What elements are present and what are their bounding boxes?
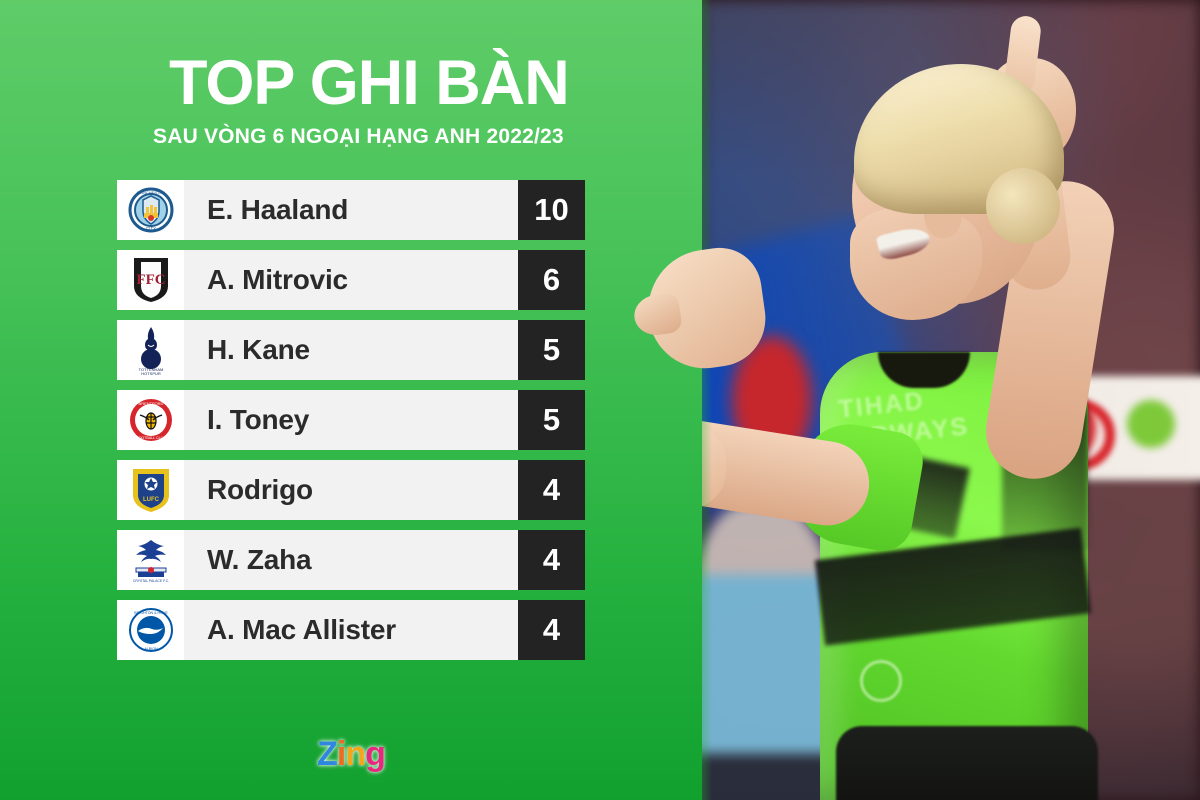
table-row[interactable]: BRIGHTON & HOVE ALBION A. Mac Allister 4 (117, 600, 585, 660)
logo-letter-n: n (345, 735, 365, 773)
logo-letter-z: Z (317, 735, 337, 773)
player-photo: TIHAD AIRWAYS (702, 0, 1200, 800)
man-city-crest: MANCHESTER CITY (117, 180, 184, 240)
player-name: W. Zaha (184, 530, 518, 590)
page-subtitle: SAU VÒNG 6 NGOẠI HẠNG ANH 2022/23 (153, 125, 677, 149)
svg-text:CITY: CITY (145, 226, 155, 231)
goal-count: 4 (518, 600, 585, 660)
player-shorts (836, 726, 1098, 800)
table-row[interactable]: LUFC Rodrigo 4 (117, 460, 585, 520)
leeds-crest: LUFC (117, 460, 184, 520)
infographic-canvas: TIHAD AIRWAYS TOP GHI BÀN SAU VÒNG 6 NGO… (0, 0, 1200, 800)
svg-text:FOOTBALL CLUB: FOOTBALL CLUB (136, 436, 166, 440)
table-row[interactable]: FFC A. Mitrovic 6 (117, 250, 585, 310)
logo-letter-g: g (365, 735, 385, 773)
player-name: H. Kane (184, 320, 518, 380)
svg-text:LUFC: LUFC (143, 497, 160, 503)
page-title: TOP GHI BÀN (169, 52, 677, 115)
svg-text:BRENTFORD: BRENTFORD (138, 401, 163, 406)
goal-count: 5 (518, 390, 585, 450)
haaland-figure: TIHAD AIRWAYS (702, 0, 1200, 800)
svg-text:BRIGHTON & HOVE: BRIGHTON & HOVE (134, 611, 168, 615)
goal-count: 6 (518, 250, 585, 310)
player-name: Rodrigo (184, 460, 518, 520)
goal-count: 10 (518, 180, 585, 240)
svg-text:CRYSTAL PALACE F.C.: CRYSTAL PALACE F.C. (132, 579, 168, 583)
goal-count: 4 (518, 460, 585, 520)
table-row[interactable]: BRENTFORD FOOTBALL CLUB I. Toney 5 (117, 390, 585, 450)
svg-text:MANCHESTER: MANCHESTER (136, 190, 164, 195)
table-row[interactable]: MANCHESTER CITY E. Haaland 10 (117, 180, 585, 240)
table-row[interactable]: CRYSTAL PALACE F.C. W. Zaha 4 (117, 530, 585, 590)
shirt-club-badge (860, 660, 902, 702)
top-scorers-table: MANCHESTER CITY E. Haaland 10 FFC A. Mit… (117, 180, 585, 660)
fulham-crest: FFC (117, 250, 184, 310)
player-name: E. Haaland (184, 180, 518, 240)
player-name: I. Toney (184, 390, 518, 450)
brighton-crest: BRIGHTON & HOVE ALBION (117, 600, 184, 660)
headline-block: TOP GHI BÀN SAU VÒNG 6 NGOẠI HẠNG ANH 20… (117, 52, 677, 149)
tottenham-crest: TOTTENHAM HOTSPUR (117, 320, 184, 380)
player-hair-bun (986, 168, 1060, 244)
crystal-palace-crest: CRYSTAL PALACE F.C. (117, 530, 184, 590)
photo-edge-fade (702, 0, 712, 800)
svg-text:FFC: FFC (136, 272, 165, 288)
goal-count: 4 (518, 530, 585, 590)
player-name: A. Mitrovic (184, 250, 518, 310)
player-name: A. Mac Allister (184, 600, 518, 660)
svg-text:ALBION: ALBION (144, 647, 158, 651)
svg-text:HOTSPUR: HOTSPUR (141, 371, 161, 375)
brentford-crest: BRENTFORD FOOTBALL CLUB (117, 390, 184, 450)
table-row[interactable]: TOTTENHAM HOTSPUR H. Kane 5 (117, 320, 585, 380)
goal-count: 5 (518, 320, 585, 380)
zing-logo[interactable]: Zing (0, 735, 702, 774)
